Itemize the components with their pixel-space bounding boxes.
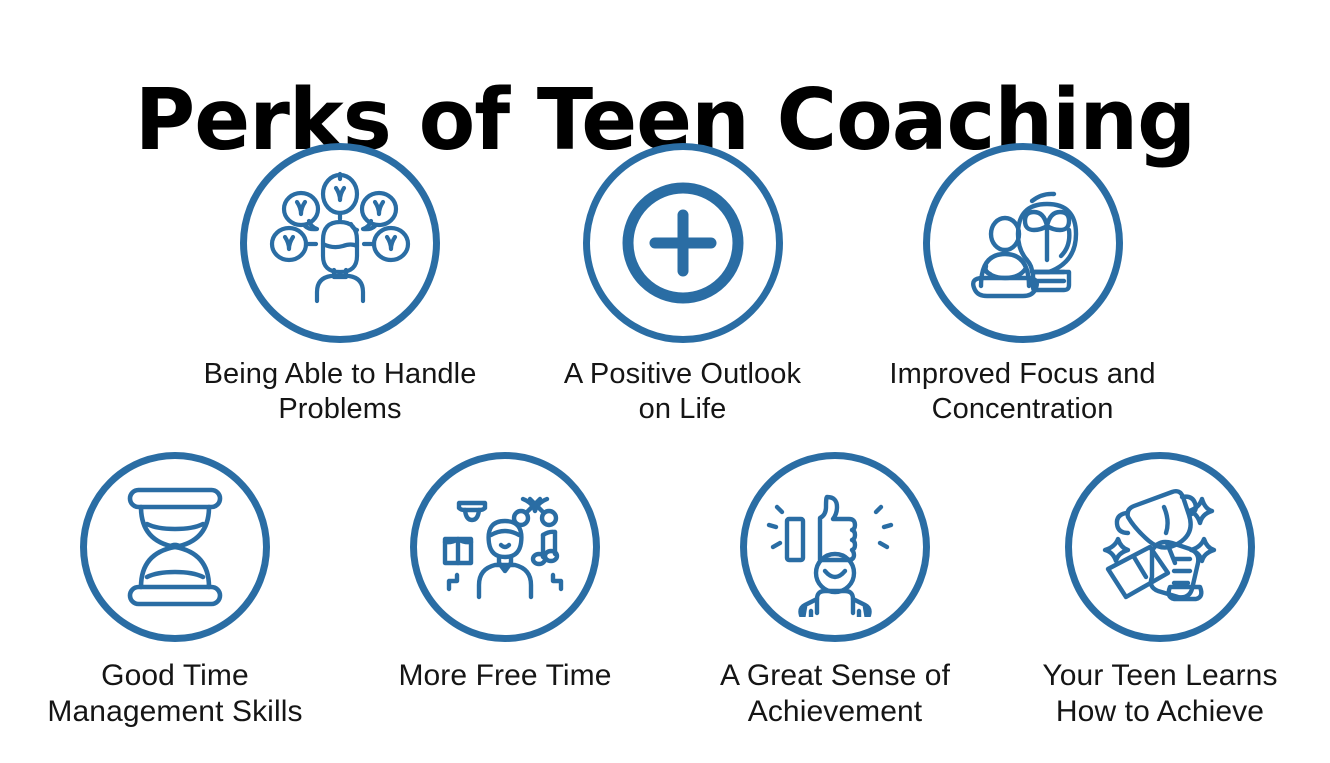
benefit-item-learns-how-to-achieve[interactable]: Your Teen Learns How to Achieve [1000, 452, 1320, 730]
infographic-page: Perks of Teen Coaching [0, 0, 1330, 763]
icon-circle-time-management [80, 452, 270, 642]
benefits-row-bottom: Good Time Management Skills [0, 452, 1330, 730]
icon-circle-improved-focus [923, 143, 1123, 343]
benefit-item-sense-of-achievement[interactable]: A Great Sense of Achievement [670, 452, 1000, 730]
benefit-caption: A Great Sense of Achievement [720, 658, 950, 730]
benefit-caption: Improved Focus and Concentration [889, 357, 1155, 427]
benefit-caption: Your Teen Learns How to Achieve [1042, 658, 1277, 730]
benefits-row-top: Being Able to Handle Problems A Positive… [0, 143, 1330, 427]
plus-in-circle-icon [608, 168, 758, 318]
benefit-caption: More Free Time [398, 658, 611, 694]
benefit-caption: Good Time Management Skills [47, 658, 302, 730]
benefit-item-improved-focus[interactable]: Improved Focus and Concentration [858, 143, 1188, 427]
head-with-thought-bubbles-icon [265, 168, 415, 318]
benefit-caption: A Positive Outlook on Life [564, 357, 801, 427]
icon-circle-sense-of-achievement [740, 452, 930, 642]
benefit-item-more-free-time[interactable]: More Free Time [340, 452, 670, 694]
benefit-item-positive-outlook[interactable]: A Positive Outlook on Life [518, 143, 848, 427]
benefit-item-handle-problems[interactable]: Being Able to Handle Problems [163, 143, 518, 427]
icon-circle-more-free-time [410, 452, 600, 642]
icon-circle-learns-how-to-achieve [1065, 452, 1255, 642]
thumbs-up-happy-person-icon [765, 477, 905, 617]
icon-circle-handle-problems [240, 143, 440, 343]
icon-circle-positive-outlook [583, 143, 783, 343]
hand-holding-trophy-icon [1090, 477, 1230, 617]
benefit-caption: Being Able to Handle Problems [204, 357, 477, 427]
hourglass-icon [105, 477, 245, 617]
person-with-hobbies-icon [435, 477, 575, 617]
meditating-person-lightbulb-icon [948, 168, 1098, 318]
benefit-item-time-management[interactable]: Good Time Management Skills [10, 452, 340, 730]
